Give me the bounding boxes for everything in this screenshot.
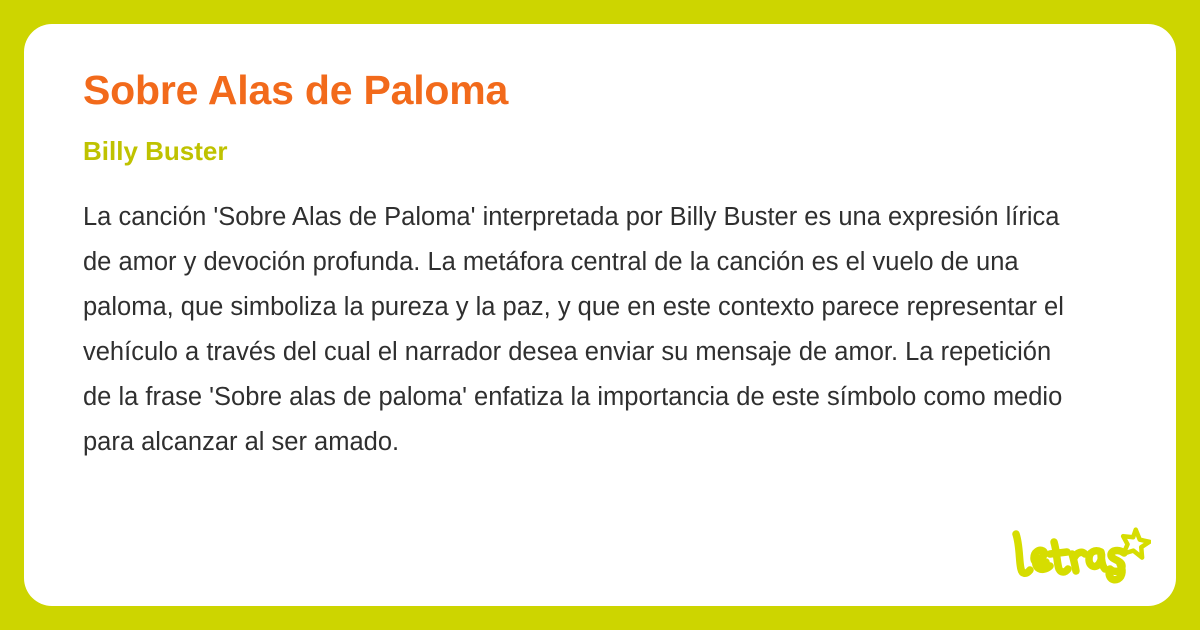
- song-description: La canción 'Sobre Alas de Paloma' interp…: [83, 195, 1083, 465]
- card-content: Sobre Alas de Paloma Billy Buster La can…: [83, 66, 1083, 465]
- song-info-card: Sobre Alas de Paloma Billy Buster La can…: [24, 24, 1176, 606]
- letras-wordmark-icon: [1016, 534, 1124, 580]
- page-title: Sobre Alas de Paloma: [83, 66, 1083, 115]
- artist-name: Billy Buster: [83, 135, 1083, 167]
- star-outline-icon: [1120, 527, 1151, 558]
- page-background: Sobre Alas de Paloma Billy Buster La can…: [0, 0, 1200, 630]
- letras-logo[interactable]: [1006, 524, 1151, 586]
